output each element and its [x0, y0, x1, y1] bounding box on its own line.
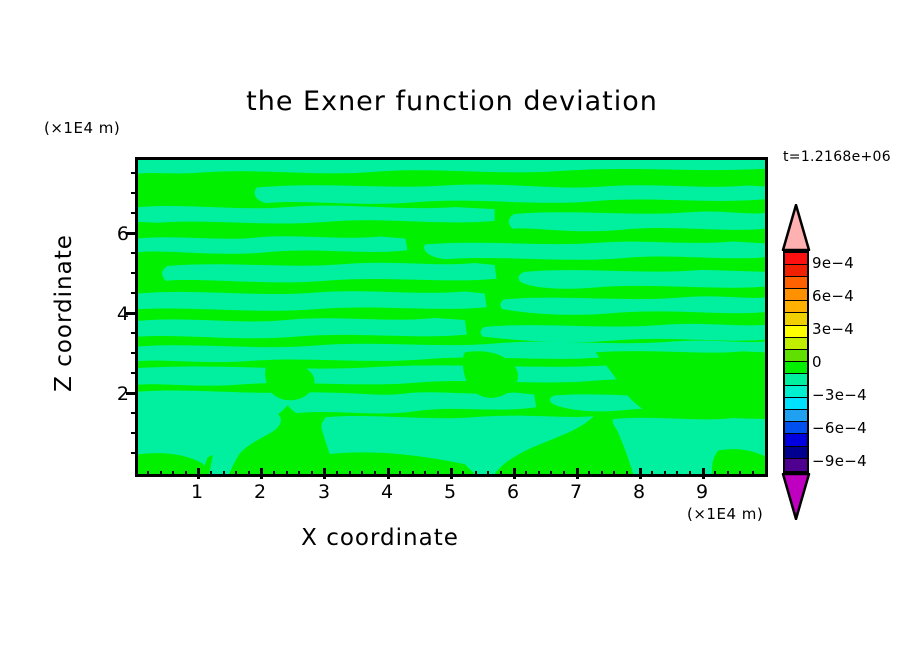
colorbar-under-arrow: [781, 473, 811, 520]
colorbar-band: [785, 386, 807, 398]
colorbar-over-arrow: [781, 204, 811, 251]
colorbar-band: [785, 277, 807, 289]
timestamp-annotation: t=1.2168e+06: [783, 149, 891, 165]
colorbar-band: [785, 326, 807, 338]
colorbar-band: [785, 398, 807, 410]
colorbar-tick-label: −6e−4: [812, 419, 867, 437]
colorbar-band: [785, 447, 807, 459]
x-tick-label: 9: [696, 481, 708, 503]
y-axis-title: Z coordinate: [51, 213, 77, 413]
x-tick-label: 5: [444, 481, 456, 503]
colorbar-band: [785, 350, 807, 362]
y-tick-label: 6: [117, 223, 129, 245]
colorbar-band: [785, 459, 807, 471]
colorbar-tick-label: 9e−4: [812, 254, 854, 272]
colorbar-band: [785, 422, 807, 434]
x-tick-label: 2: [254, 481, 266, 503]
x-tick-label: 6: [507, 481, 519, 503]
colorbar-band: [785, 301, 807, 313]
colorbar-bands: [783, 251, 809, 473]
x-tick-label: 1: [191, 481, 203, 503]
colorbar-tick-label: 3e−4: [812, 320, 854, 338]
colorbar-tick-label: −3e−4: [812, 386, 867, 404]
colorbar-tick-label: 6e−4: [812, 287, 854, 305]
y-tick-label: 2: [117, 383, 129, 405]
colorbar-band: [785, 434, 807, 446]
colorbar-tick-labels: 9e−4 6e−4 3e−4 0 −3e−4 −6e−4 −9e−4: [812, 204, 904, 520]
y-axis-tick-labels: 2 4 6: [95, 157, 129, 477]
x-axis-title: X coordinate: [0, 525, 760, 551]
colorbar-tick-label: 0: [812, 353, 822, 371]
colorbar-band: [785, 362, 807, 374]
x-tick-label: 3: [318, 481, 330, 503]
horizontal-axis-unit: (×1E4 m): [687, 505, 763, 523]
colorbar-band: [785, 374, 807, 386]
x-tick-label: 8: [633, 481, 645, 503]
x-axis-tick-labels: 1 2 3 4 5 6 7 8 9: [135, 481, 768, 507]
colorbar-band: [785, 265, 807, 277]
contour-field: [138, 160, 765, 474]
colorbar-band: [785, 338, 807, 350]
colorbar-band: [785, 289, 807, 301]
x-tick-label: 7: [570, 481, 582, 503]
page-title: the Exner function deviation: [0, 86, 904, 117]
colorbar: [781, 204, 811, 520]
x-tick-label: 4: [381, 481, 393, 503]
colorbar-band: [785, 313, 807, 325]
contour-plot-area: [135, 157, 768, 477]
colorbar-tick-label: −9e−4: [812, 452, 867, 470]
colorbar-band: [785, 253, 807, 265]
colorbar-band: [785, 410, 807, 422]
y-tick-label: 4: [117, 303, 129, 325]
vertical-axis-unit: (×1E4 m): [44, 119, 120, 137]
